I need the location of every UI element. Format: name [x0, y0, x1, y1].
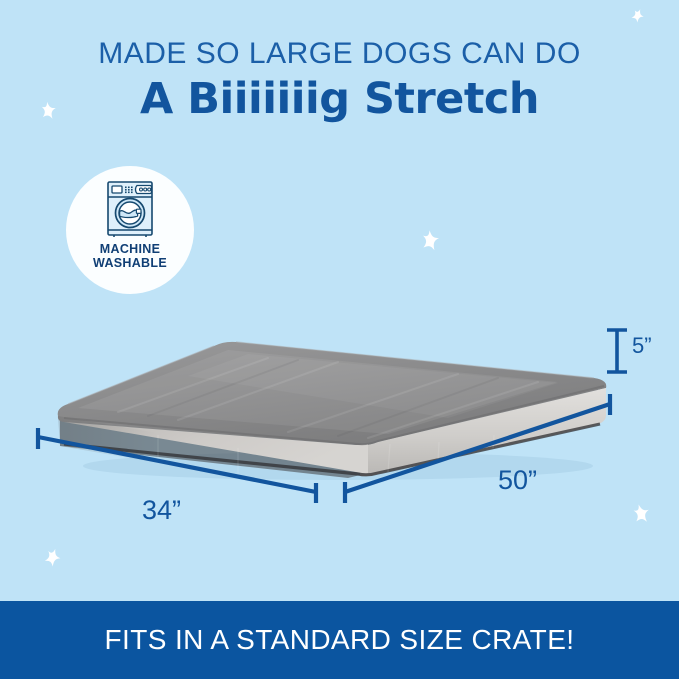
dimension-label-5: 5” — [632, 333, 652, 359]
machine-washable-label: MACHINE WASHABLE — [93, 242, 167, 270]
dimension-label-34: 34” — [142, 495, 181, 526]
star-icon — [414, 224, 448, 258]
page-title: A Biiiiiiig Stretch — [0, 76, 679, 123]
dimension-label-50: 50” — [498, 465, 537, 496]
bottom-banner: FITS IN A STANDARD SIZE CRATE! — [0, 601, 679, 679]
washing-machine-icon — [102, 177, 158, 239]
banner-text: FITS IN A STANDARD SIZE CRATE! — [105, 624, 575, 656]
headline-kicker: MADE SO LARGE DOGS CAN DO — [0, 38, 679, 70]
badge-label-line2: WASHABLE — [93, 256, 167, 270]
machine-washable-badge: MACHINE WASHABLE — [66, 166, 194, 294]
gray-pet-bed-mattress — [38, 296, 628, 496]
star-icon — [37, 542, 69, 574]
badge-label-line1: MACHINE — [93, 242, 167, 256]
star-icon — [625, 3, 650, 28]
product-infographic: MADE SO LARGE DOGS CAN DO A Biiiiiiig St… — [0, 0, 679, 679]
headline-block: MADE SO LARGE DOGS CAN DO A Biiiiiiig St… — [0, 38, 679, 123]
star-icon — [624, 496, 660, 532]
